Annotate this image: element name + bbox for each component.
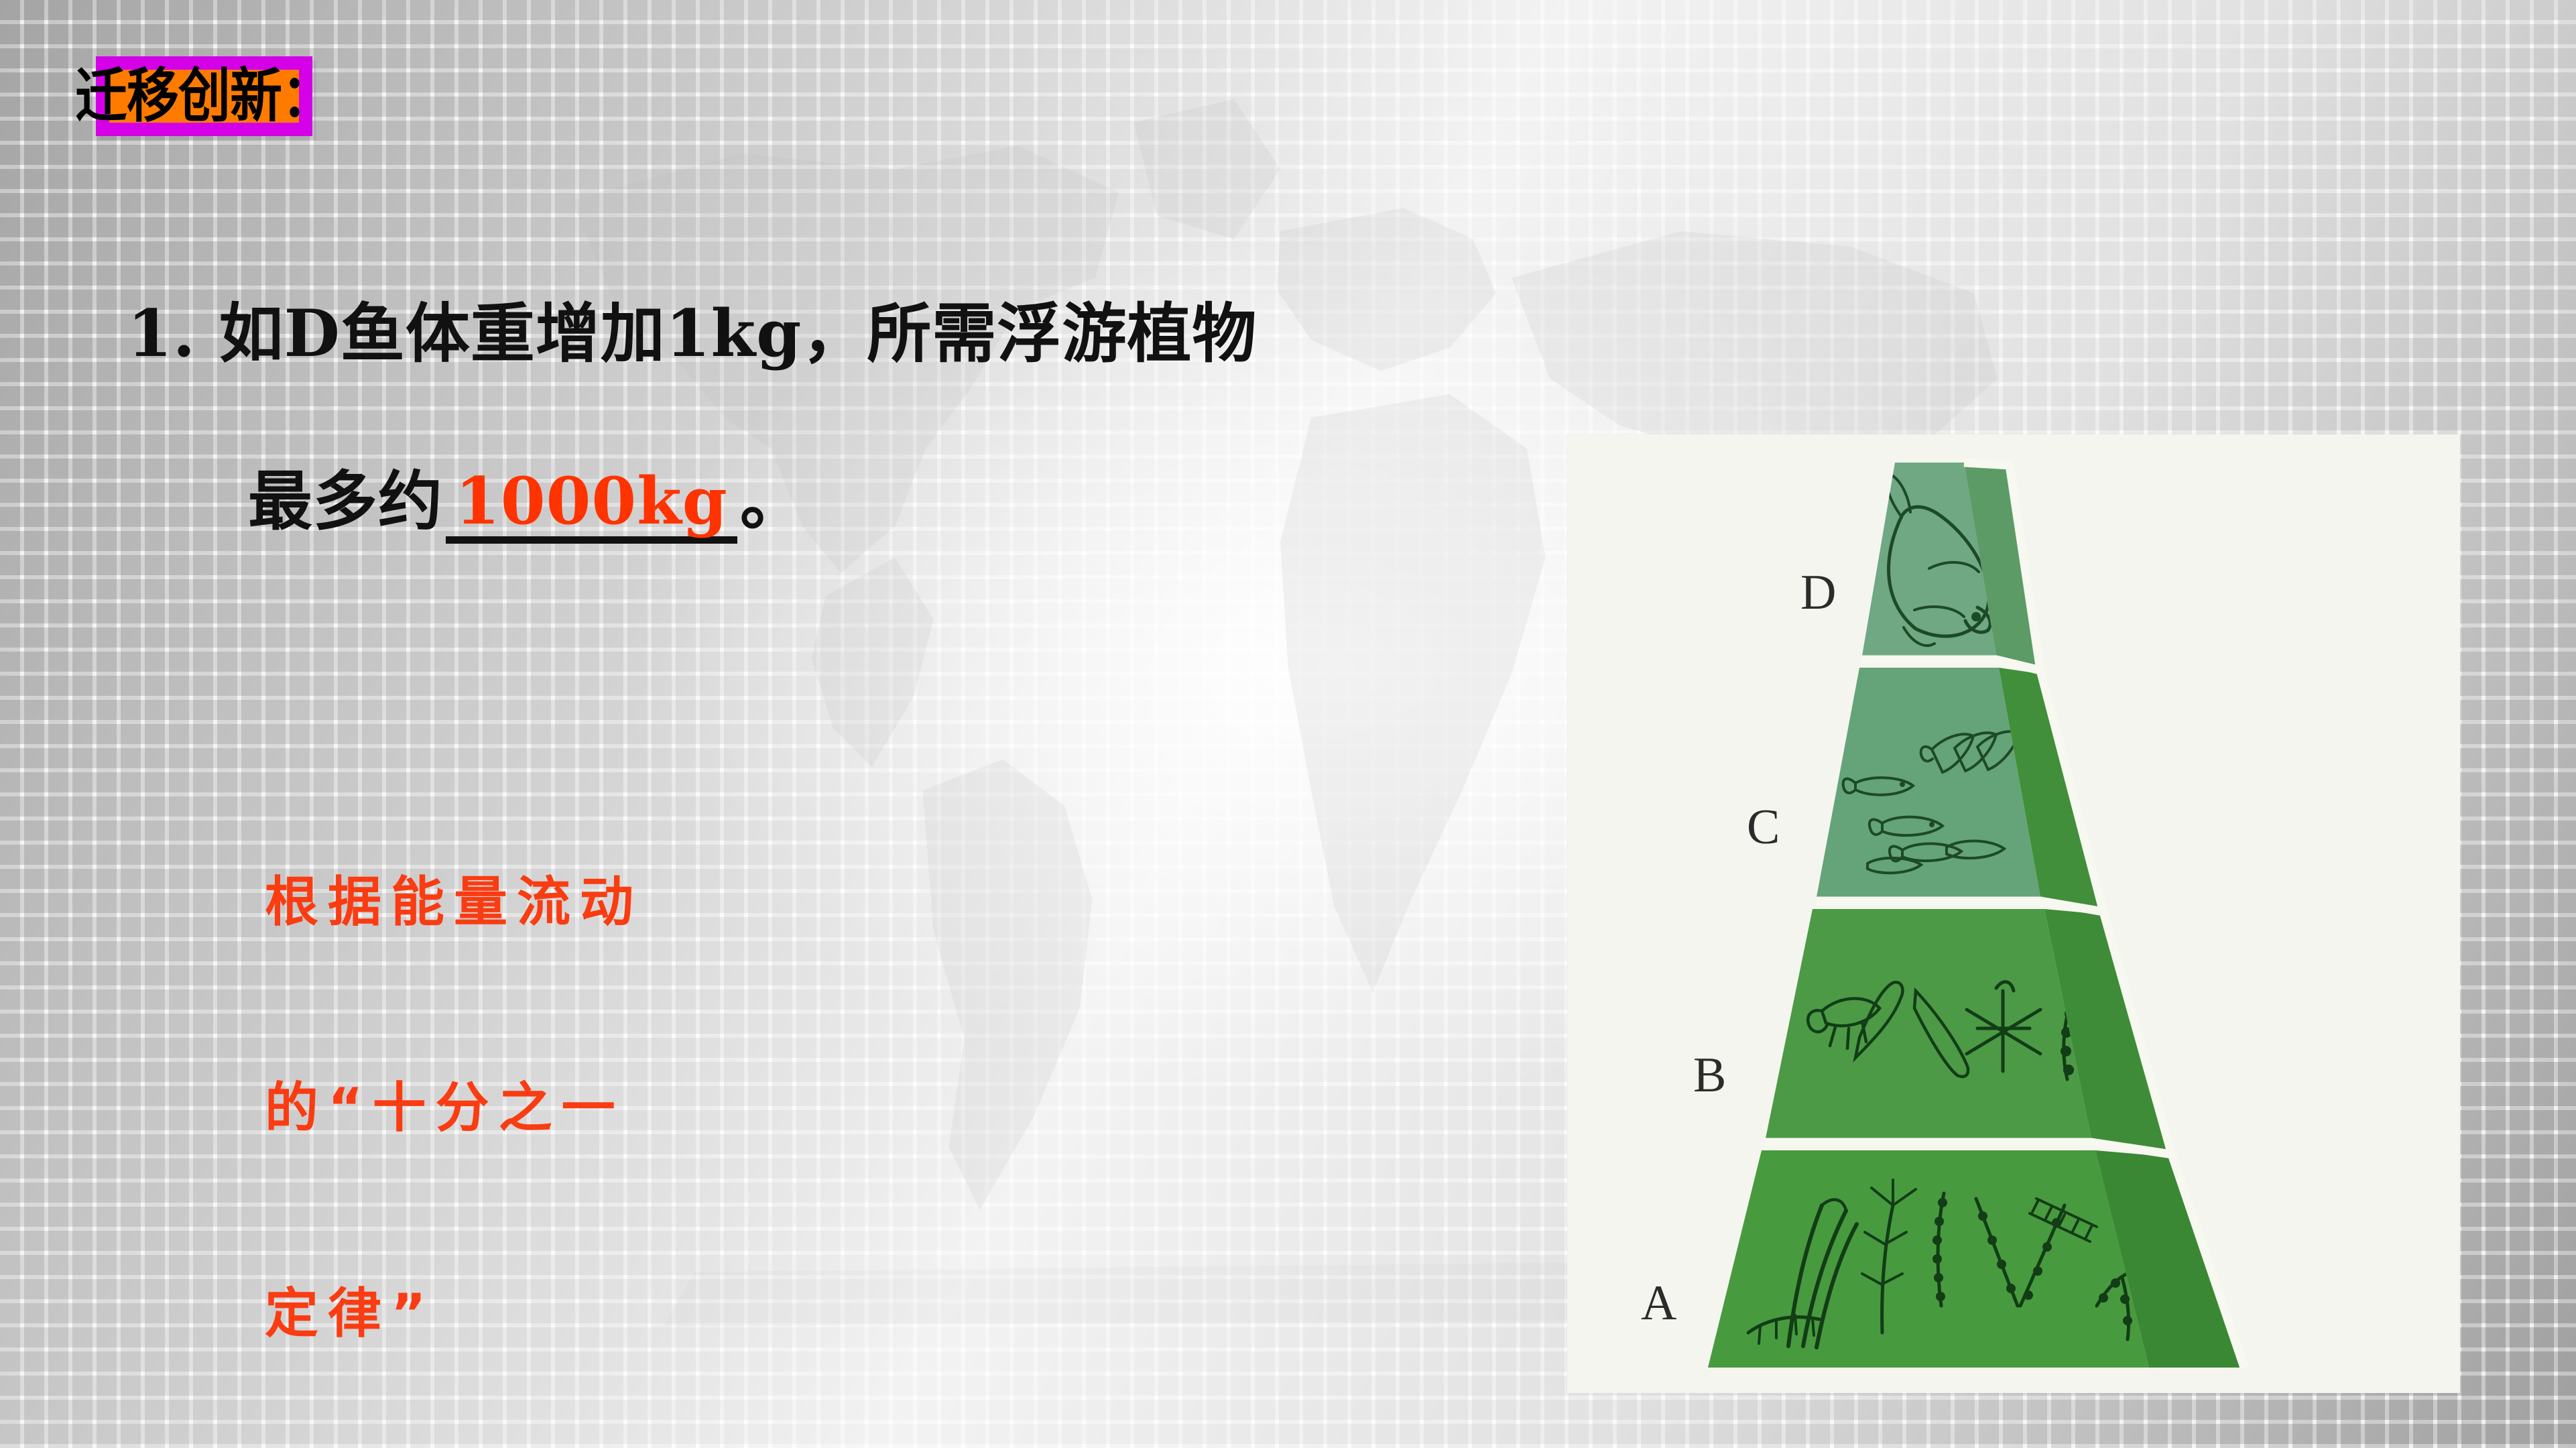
pyramid-label-B: B xyxy=(1693,1048,1726,1103)
answer-value: 1000kg xyxy=(455,463,728,539)
ecological-pyramid-figure: D C B A xyxy=(1567,434,2460,1393)
pyramid-label-A: A xyxy=(1641,1276,1676,1331)
answer-blank: 1000kg xyxy=(446,469,737,544)
question-line-1: 1. 如D鱼体重增加1kg，所需浮游植物 xyxy=(127,302,1257,366)
question-line-2: 最多约 1000kg 。 xyxy=(248,469,805,544)
hint-note-line-2: 的“十分之一 xyxy=(265,1074,643,1142)
section-title-chip: 迁移创新： xyxy=(96,56,312,136)
question-line-2-suffix: 。 xyxy=(740,469,805,534)
section-title-fill: 迁移创新： xyxy=(109,70,299,123)
pyramid-label-C: C xyxy=(1747,800,1780,855)
pyramid-label-D: D xyxy=(1800,565,1836,620)
pyramid-diagram: D C B A xyxy=(1567,434,2460,1393)
hint-note: 根据能量流动 的“十分之一 定律” xyxy=(265,731,643,1448)
question-line-2-prefix: 最多约 xyxy=(248,469,443,534)
pyramid-level-A xyxy=(1708,1150,2149,1368)
slide-canvas: 迁移创新： 1. 如D鱼体重增加1kg，所需浮游植物 最多约 1000kg 。 … xyxy=(0,0,2576,1448)
section-title-text: 迁移创新： xyxy=(75,67,333,125)
hint-note-line-1: 根据能量流动 xyxy=(265,868,643,937)
hint-note-line-3: 定律” xyxy=(265,1280,643,1348)
